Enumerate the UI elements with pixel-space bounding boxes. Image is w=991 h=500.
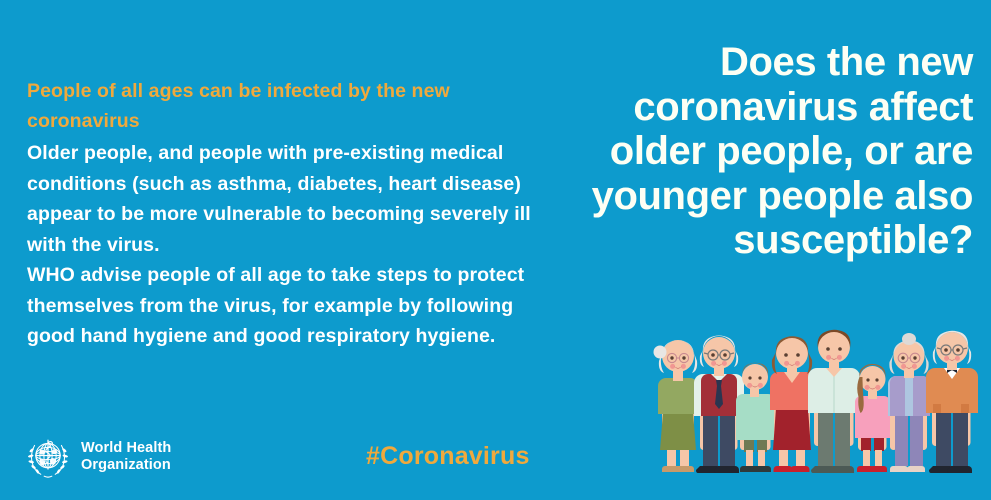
lede-heading: People of all ages can be infected by th… bbox=[27, 76, 547, 136]
who-un-globe-laurel-asclepius-emblem-icon bbox=[24, 433, 72, 481]
figure-woman-coral-blouse bbox=[770, 336, 814, 472]
figure-elderly-woman-green bbox=[654, 340, 699, 472]
who-logo: World Health Organization bbox=[24, 433, 171, 481]
page-title: Does the new coronavirus affect older pe… bbox=[533, 40, 973, 263]
body-paragraph-1: Older people, and people with pre-existi… bbox=[27, 138, 547, 260]
who-coronavirus-infographic: Does the new coronavirus affect older pe… bbox=[0, 0, 991, 500]
figure-elderly-man-orange bbox=[926, 331, 978, 473]
who-wordmark: World Health Organization bbox=[81, 440, 171, 474]
hashtag-coronavirus: #Coronavirus bbox=[366, 442, 530, 471]
figure-man-mint-shirt bbox=[808, 330, 860, 473]
group-of-eight-people-all-ages-illustration bbox=[648, 320, 988, 480]
figure-elderly-woman-purple bbox=[888, 333, 930, 472]
left-text-column: People of all ages can be infected by th… bbox=[27, 76, 547, 352]
body-paragraph-2: WHO advise people of all age to take ste… bbox=[27, 260, 547, 352]
figure-girl-pink-top bbox=[855, 364, 890, 472]
